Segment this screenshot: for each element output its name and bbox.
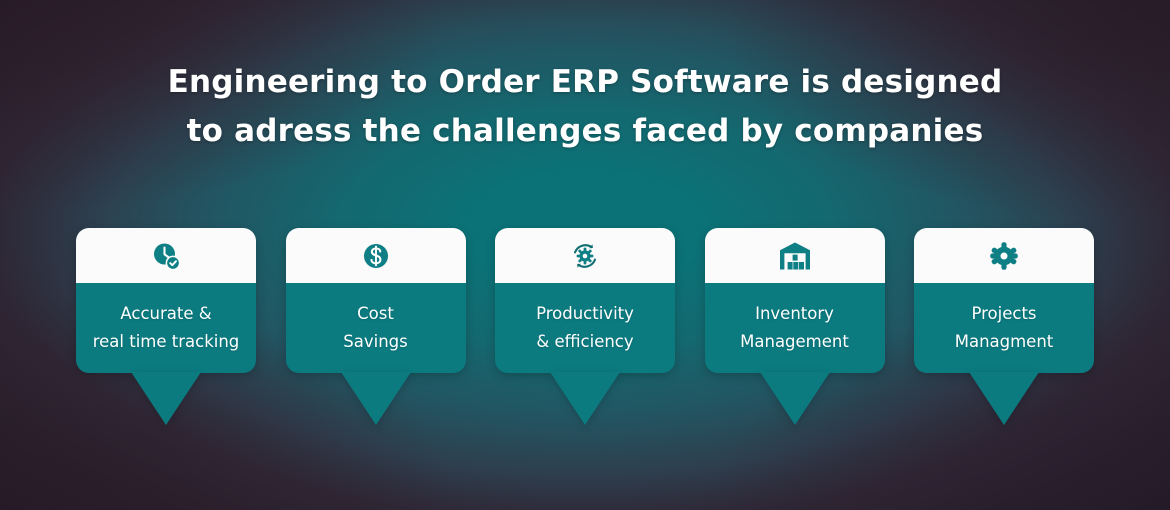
- card-body: Productivity & efficiency: [495, 283, 675, 373]
- card-label-line-2: Savings: [343, 328, 407, 356]
- benefit-card-projects[interactable]: Projects Managment: [914, 228, 1094, 428]
- benefit-card-cost-savings[interactable]: Cost Savings: [286, 228, 466, 428]
- card-icon-header: [705, 228, 885, 283]
- card-surface: Projects Managment: [914, 228, 1094, 373]
- card-body: Inventory Management: [705, 283, 885, 373]
- card-label-line-1: Inventory: [755, 300, 834, 328]
- benefit-card-accurate-tracking[interactable]: Accurate & real time tracking: [76, 228, 256, 428]
- clock-check-icon: [150, 240, 182, 272]
- card-body: Accurate & real time tracking: [76, 283, 256, 373]
- card-surface: Inventory Management: [705, 228, 885, 373]
- card-icon-header: [286, 228, 466, 283]
- warehouse-icon: [778, 241, 812, 271]
- card-label-line-2: real time tracking: [93, 328, 240, 356]
- benefit-card-productivity[interactable]: Productivity & efficiency: [495, 228, 675, 428]
- card-label-line-2: Managment: [955, 328, 1054, 356]
- card-body: Projects Managment: [914, 283, 1094, 373]
- gear-icon: [989, 241, 1019, 271]
- card-label-line-1: Productivity: [536, 300, 634, 328]
- gear-cycle-icon: [569, 240, 601, 272]
- benefit-card-inventory[interactable]: Inventory Management: [705, 228, 885, 428]
- card-surface: Cost Savings: [286, 228, 466, 373]
- benefit-card-list: Accurate & real time tracking: [76, 228, 1094, 428]
- card-icon-header: [76, 228, 256, 283]
- card-pointer: [760, 372, 830, 425]
- card-label-line-2: & efficiency: [536, 328, 633, 356]
- card-surface: Productivity & efficiency: [495, 228, 675, 373]
- card-pointer: [341, 372, 411, 425]
- page-title-line-1: Engineering to Order ERP Software is des…: [0, 58, 1170, 107]
- card-label-line-1: Accurate &: [120, 300, 211, 328]
- page-title: Engineering to Order ERP Software is des…: [0, 58, 1170, 156]
- card-pointer: [969, 372, 1039, 425]
- card-label-line-1: Projects: [971, 300, 1036, 328]
- card-icon-header: [914, 228, 1094, 283]
- card-label-line-2: Management: [740, 328, 849, 356]
- card-pointer: [131, 372, 201, 425]
- card-pointer: [550, 372, 620, 425]
- card-body: Cost Savings: [286, 283, 466, 373]
- page-title-line-2: to adress the challenges faced by compan…: [0, 107, 1170, 156]
- dollar-circle-icon: [362, 242, 390, 270]
- card-label-line-1: Cost: [357, 300, 394, 328]
- card-surface: Accurate & real time tracking: [76, 228, 256, 373]
- infographic-banner: Engineering to Order ERP Software is des…: [0, 0, 1170, 510]
- card-icon-header: [495, 228, 675, 283]
